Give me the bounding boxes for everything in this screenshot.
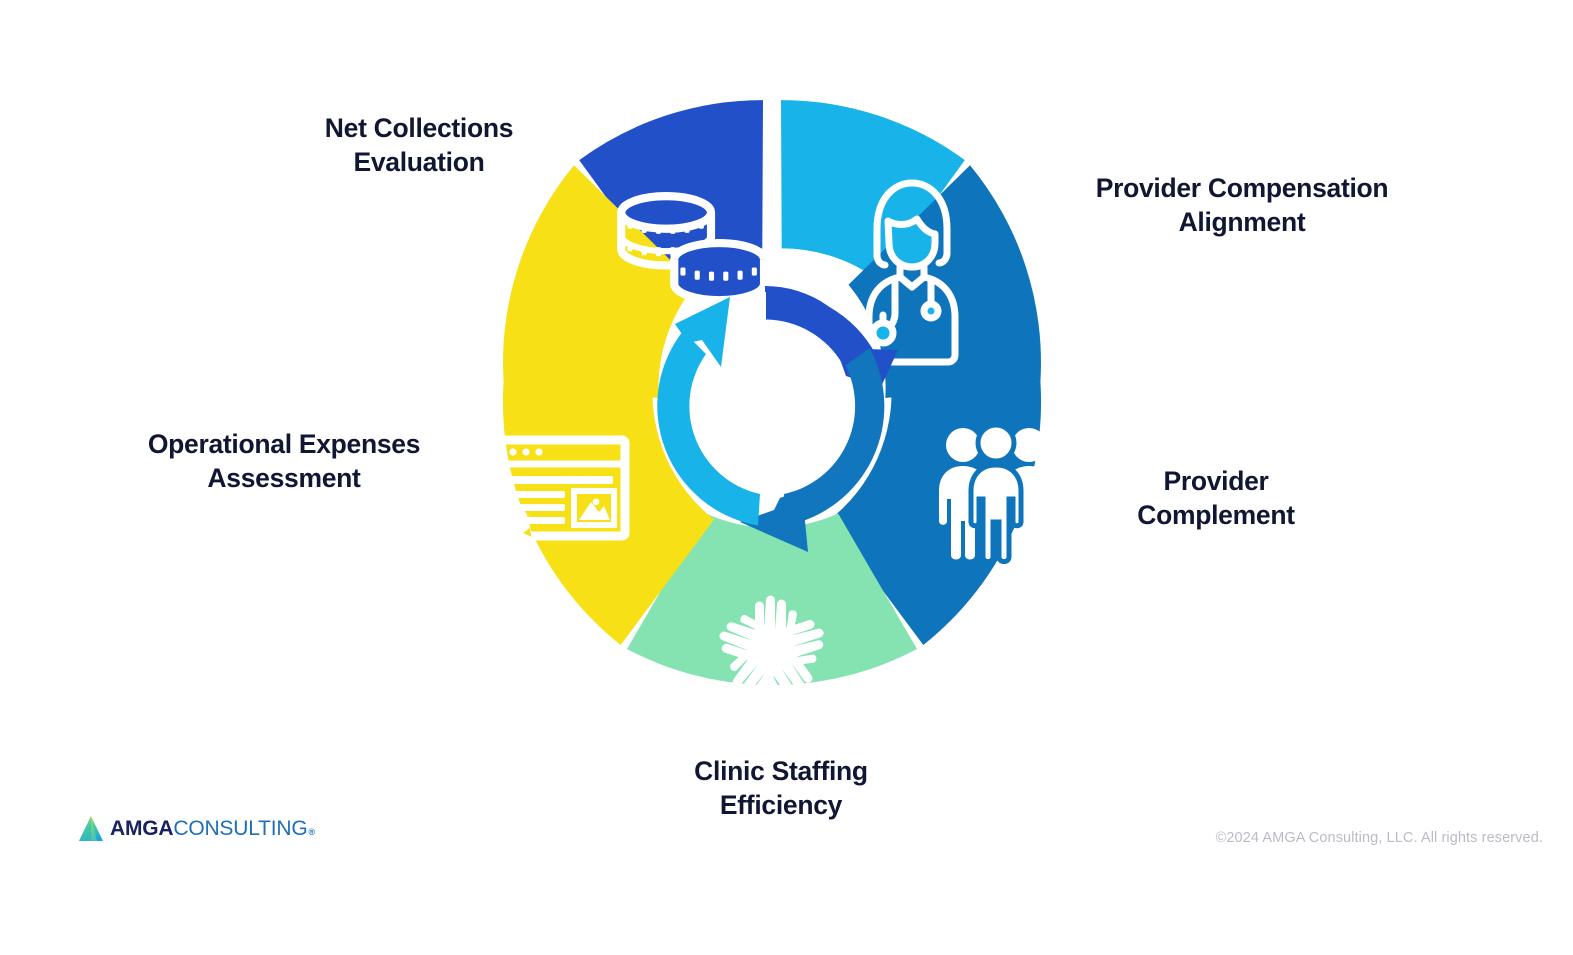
cycle-wheel [457,95,1087,725]
logo-text-amga: AMGA [110,817,173,841]
segment-label-operational-expenses: Operational Expenses Assessment [124,428,444,496]
segment-label-clinic-staffing: Clinic Staffing Efficiency [650,755,912,823]
segment-label-net-collections: Net Collections Evaluation [299,112,539,180]
logo-text-consulting: CONSULTING [173,817,307,841]
copyright-notice: ©2024 AMGA Consulting, LLC. All rights r… [1216,830,1543,846]
logo-trademark-symbol: ® [308,827,314,837]
amga-logo-wordmark: AMGACONSULTING® [110,817,315,841]
segment-label-provider-complement: Provider Complement [1100,465,1332,533]
segment-label-provider-compensation: Provider Compensation Alignment [1062,172,1422,240]
diagram-canvas: Net Collections Evaluation Provider Comp… [0,0,1573,955]
amga-consulting-logo: AMGACONSULTING® [78,815,315,843]
amga-logo-mark [78,815,104,843]
